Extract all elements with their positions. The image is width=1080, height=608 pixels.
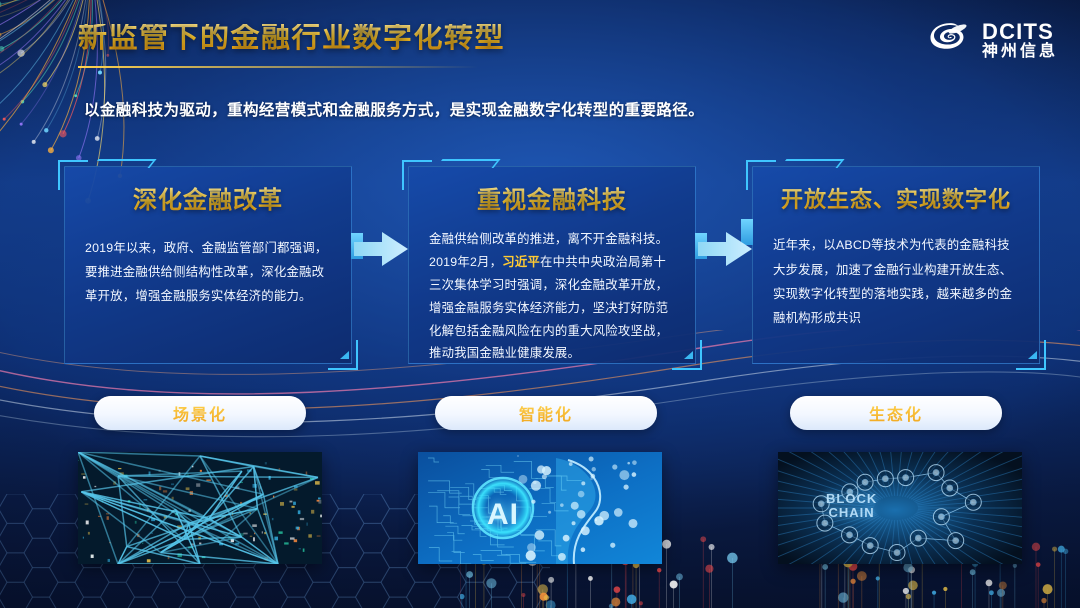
ai-brain-profile-photo: AI [418,452,662,564]
pill-intelligence[interactable]: 智能化 [435,396,657,430]
corner-notch-icon [779,159,844,168]
card-value-fintech[interactable]: 重视金融科技 金融供给侧改革的推进，离不开金融科技。2019年2月，习近平在中共… [408,166,696,364]
pill-label: 生态化 [869,401,923,425]
card-body-text: 2019年以来，政府、金融监管部门都强调，要推进金融供给侧结构性改革，深化金融改… [85,236,331,309]
blockchain-network-photo: BLOCKCHAIN [778,452,1022,564]
pill-label: 智能化 [519,401,573,425]
spiral-galaxy-icon [929,20,973,60]
blue-network-city-photo [78,452,322,564]
dcits-logo: DCITS 神州信息 [929,20,1058,60]
pill-ecosystem[interactable]: 生态化 [790,396,1002,430]
card-body-text: 金融供给侧改革的推进，离不开金融科技。2019年2月，习近平在中共中央政治局第十… [429,228,675,366]
corner-triangle-icon [684,351,693,359]
corner-triangle-icon [340,351,349,359]
page-subtitle: 以金融科技为驱动，重构经营模式和金融服务方式，是实现金融数字化转型的重要路径。 [84,98,704,120]
logo-text-cn: 神州信息 [982,44,1058,60]
corner-triangle-icon [1028,351,1037,359]
card-open-ecosystem-digitalization[interactable]: 开放生态、实现数字化 近年来，以ABCD等技术为代表的金融科技大步发展，加速了金… [752,166,1040,364]
arrow-card1-to-card2-icon [352,228,410,270]
card-title: 开放生态、实现数字化 [773,187,1019,213]
arrow-card2-to-card3-icon [696,228,754,270]
ai-photo-caption: AI [474,486,532,544]
card-deepen-financial-reform[interactable]: 深化金融改革 2019年以来，政府、金融监管部门都强调，要推进金融供给侧结构性改… [64,166,352,364]
corner-bracket-icon [746,160,776,190]
pill-label: 场景化 [173,401,227,425]
card-body-text: 近年来，以ABCD等技术为代表的金融科技大步发展，加速了金融行业构建开放生态、实… [773,233,1019,330]
pill-scenario[interactable]: 场景化 [94,396,306,430]
corner-notch-icon [435,159,500,168]
cards-row: 深化金融改革 2019年以来，政府、金融监管部门都强调，要推进金融供给侧结构性改… [0,166,1080,366]
page-title-bar: 新监管下的金融行业数字化转型 [78,24,505,53]
corner-bracket-icon [58,160,88,190]
corner-notch-icon [91,159,156,168]
card-body-part2: 在中共中央政治局第十三次集体学习时强调，深化金融改革开放，增强金融服务实体经济能… [429,255,668,361]
title-underline [78,66,478,68]
logo-text-en: DCITS [982,21,1058,43]
card-title: 深化金融改革 [85,187,331,216]
card-title: 重视金融科技 [429,187,675,216]
blockchain-photo-caption: BLOCKCHAIN [826,492,877,519]
highlighted-name: 习近平 [502,255,540,269]
corner-bracket-icon [402,160,432,190]
page-title: 新监管下的金融行业数字化转型 [78,24,505,53]
